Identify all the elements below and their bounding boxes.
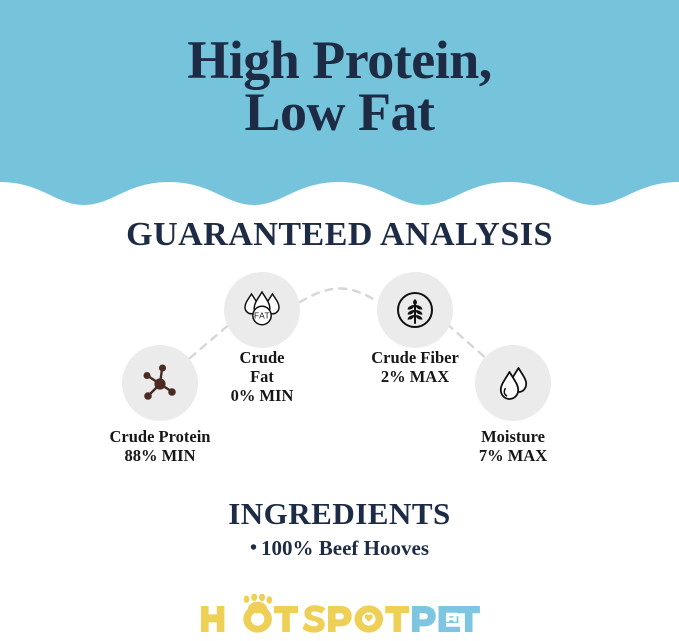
- brand-logo-wrap: [199, 594, 481, 636]
- crude-fat-bubble: FAT: [224, 272, 300, 348]
- wheat-grain-icon: [393, 288, 437, 332]
- hero-banner: High Protein, Low Fat: [0, 0, 679, 212]
- crude-fat-name-line-1: Crude: [240, 348, 285, 367]
- crude-fiber-name: Crude Fiber: [371, 348, 459, 367]
- moisture-value: 7% MAX: [423, 446, 603, 465]
- moisture-label: Moisture 7% MAX: [423, 427, 603, 465]
- ingredient-text: 100% Beef Hooves: [261, 536, 429, 560]
- page-title-line-2: Low Fat: [0, 86, 679, 138]
- crude-protein-label: Crude Protein 88% MIN: [60, 427, 260, 465]
- fat-icon-text: FAT: [254, 311, 270, 321]
- crude-protein-value: 88% MIN: [60, 446, 260, 465]
- guaranteed-analysis-diagram: Crude Protein 88% MIN FAT Crude: [0, 262, 679, 482]
- ingredients-heading: INGREDIENTS: [0, 496, 679, 532]
- crude-fat-value: 0% MIN: [172, 386, 352, 405]
- logo-hotspot-text: [201, 605, 409, 632]
- page-title: High Protein, Low Fat: [0, 34, 679, 138]
- hotspotpets-logo-icon: [199, 594, 481, 636]
- infographic-page: High Protein, Low Fat GUARANTEED ANALYSI…: [0, 0, 679, 636]
- fat-droplets-icon: FAT: [239, 287, 285, 333]
- bullet-icon: •: [250, 537, 257, 559]
- page-title-line-1: High Protein,: [187, 30, 492, 90]
- guaranteed-analysis-heading: GUARANTEED ANALYSIS: [0, 216, 679, 254]
- moisture-name: Moisture: [481, 427, 545, 446]
- brand-logo[interactable]: [0, 594, 679, 636]
- heart-icon: [364, 614, 372, 621]
- water-droplets-icon: [491, 361, 535, 405]
- moisture-bubble: [475, 345, 551, 421]
- connector-fat-fiber: [300, 289, 378, 303]
- ingredient-list-item: •100% Beef Hooves: [0, 536, 679, 561]
- crude-fiber-bubble: [377, 272, 453, 348]
- crude-protein-name: Crude Protein: [110, 427, 211, 446]
